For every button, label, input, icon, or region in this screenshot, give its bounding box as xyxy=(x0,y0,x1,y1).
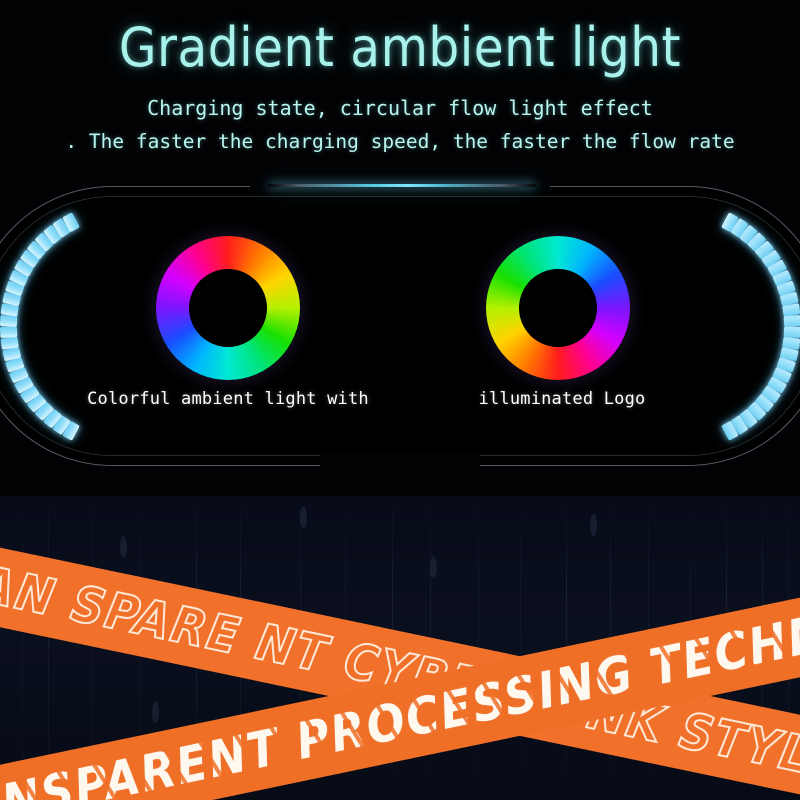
background-droplet xyxy=(120,536,127,558)
led-segment xyxy=(782,336,800,349)
right-ring-caption: illuminated Logo xyxy=(362,389,762,409)
right-rgb-ring xyxy=(486,236,630,380)
device-bottom-frame-gap xyxy=(320,452,480,474)
left-rgb-ring xyxy=(156,236,300,380)
product-promo-image: Gradient ambient light Charging state, c… xyxy=(0,0,800,800)
background-droplet xyxy=(430,556,437,578)
hero-section: Gradient ambient light Charging state, c… xyxy=(0,0,800,496)
led-segment xyxy=(783,326,800,338)
page-title: Gradient ambient light xyxy=(0,18,800,78)
bottom-banner-section: TRAN SPARE NT CYBERPUNK STYLE TRANSPAREN… xyxy=(0,496,800,800)
subtitle-line-1: Charging state, circular flow light effe… xyxy=(0,96,800,120)
led-segment xyxy=(0,336,18,349)
background-streak xyxy=(22,496,23,800)
subtitle-line-2: . The faster the charging speed, the fas… xyxy=(0,130,800,154)
led-segment xyxy=(0,315,17,327)
background-droplet xyxy=(152,701,159,723)
led-segment xyxy=(0,326,17,338)
led-segment xyxy=(783,315,800,327)
background-droplet xyxy=(300,506,307,528)
background-streak xyxy=(520,496,521,800)
background-droplet xyxy=(590,514,597,536)
device-top-highlight-glow xyxy=(268,184,536,187)
